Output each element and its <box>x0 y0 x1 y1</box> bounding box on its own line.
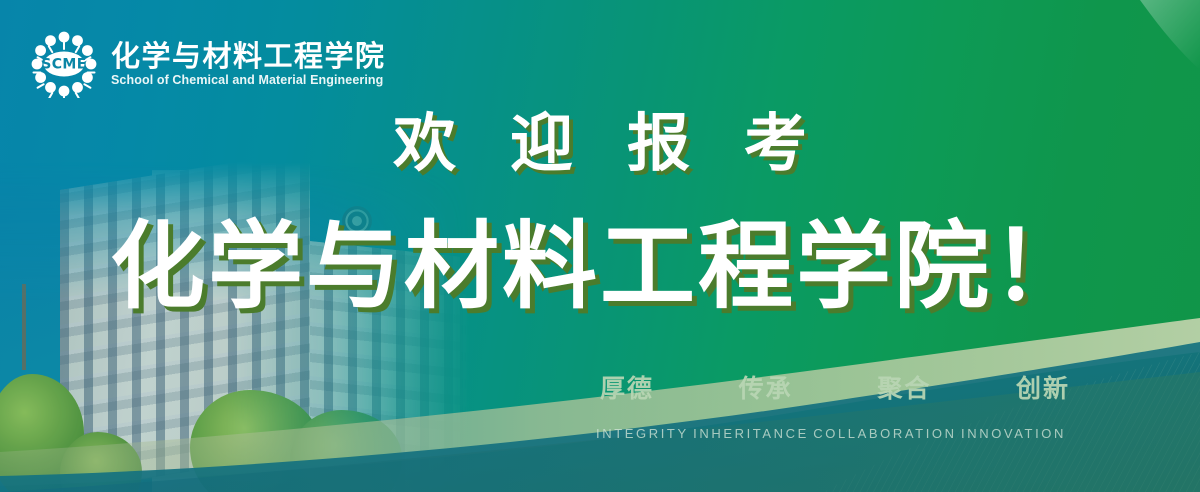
motto-en-item: INHERITANCE <box>693 427 809 440</box>
motto-cn-item: 传承 <box>739 376 793 401</box>
motto-cn-item: 厚德 <box>600 376 654 401</box>
motto-en-item: COLLABORATION <box>813 427 956 440</box>
svg-text:SCME: SCME <box>41 57 86 73</box>
masthead-text: 化学与材料工程学院 School of Chemical and Materia… <box>111 42 386 87</box>
masthead: SCME 化学与材料工程学院 School of Chemical and Ma… <box>30 30 386 98</box>
motto-cn-item: 聚合 <box>877 376 931 401</box>
page-title: 化学与材料工程学院！ <box>0 218 1200 318</box>
motto-en-item: INNOVATION <box>961 427 1066 440</box>
corner-light-streak <box>1140 0 1200 70</box>
motto-chinese: 厚德 传承 聚合 创新 <box>600 376 1070 401</box>
scme-logo-icon: SCME <box>30 30 98 98</box>
welcome-heading: 欢 迎 报 考 <box>0 112 1200 175</box>
motto-en-item: INTEGRITY <box>596 427 689 440</box>
school-name-cn: 化学与材料工程学院 <box>111 42 386 71</box>
motto-cn-item: 创新 <box>1016 376 1070 401</box>
school-name-en: School of Chemical and Material Engineer… <box>111 74 386 87</box>
admissions-banner: SCME 化学与材料工程学院 School of Chemical and Ma… <box>0 0 1200 492</box>
motto-english: INTEGRITY INHERITANCE COLLABORATION INNO… <box>596 427 1066 440</box>
